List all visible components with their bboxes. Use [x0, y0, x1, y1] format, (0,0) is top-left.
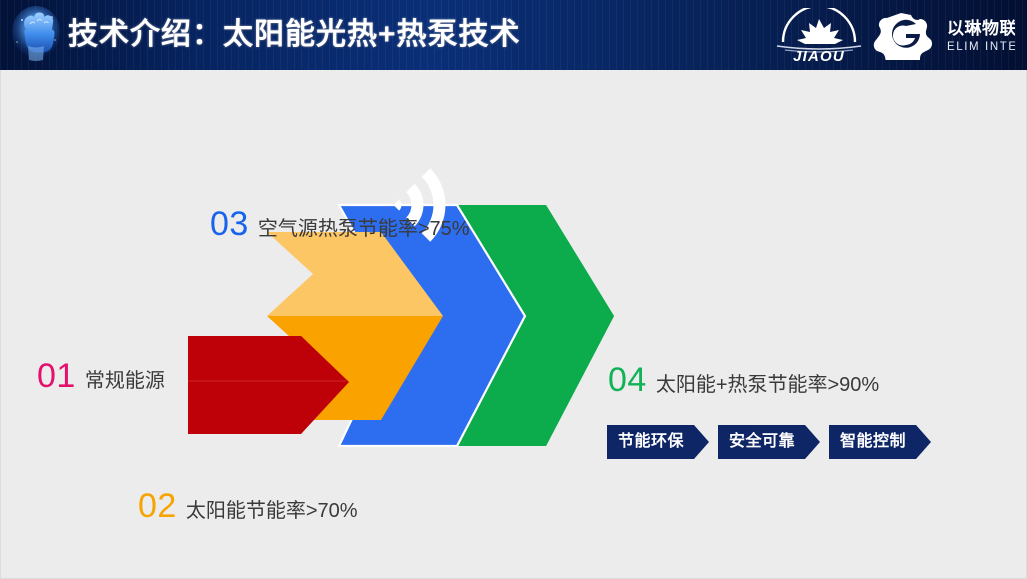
page-title: 技术介绍：太阳能光热+热泵技术	[68, 8, 521, 62]
step-label-03: 03 空气源热泵节能率>75%	[210, 205, 470, 244]
step-text-01: 常规能源	[85, 364, 165, 393]
tag-badge-safe-reliable: 安全可靠	[718, 425, 805, 459]
step-text-04: 太阳能+热泵节能率>90%	[656, 368, 879, 397]
slide-canvas: 技术介绍：太阳能光热+热泵技术 JIAOU 以琳物联 ELIM INTERNET	[0, 0, 1027, 579]
step-label-01: 01 常规能源	[37, 357, 165, 396]
tag-badge-smart-control: 智能控制	[829, 425, 916, 459]
feature-tag-row: 节能环保 安全可靠 智能控制	[607, 425, 931, 459]
elim-logo: 以琳物联 ELIM INTERNET	[873, 10, 1015, 60]
slide-body: 01 常规能源 02 太阳能节能率>70% 03 空气源热泵节能率>75% 04…	[0, 70, 1027, 579]
step-text-02: 太阳能节能率>70%	[186, 494, 358, 523]
step-number-02: 02	[138, 487, 177, 526]
jiaou-logo: JIAOU	[771, 8, 867, 62]
fist-icon	[8, 2, 64, 68]
step-text-03: 空气源热泵节能率>75%	[258, 212, 470, 241]
step-label-04: 04 太阳能+热泵节能率>90%	[608, 361, 879, 400]
tag-badge-energy-saving: 节能环保	[607, 425, 694, 459]
step-number-04: 04	[608, 361, 647, 400]
step-number-03: 03	[210, 205, 249, 244]
svg-text:JIAOU: JIAOU	[793, 48, 845, 62]
step-label-02: 02 太阳能节能率>70%	[138, 487, 358, 526]
elim-cn-name: 以琳物联	[947, 18, 1015, 38]
slide-header: 技术介绍：太阳能光热+热泵技术 JIAOU 以琳物联 ELIM INTERNET	[0, 0, 1027, 70]
step-number-01: 01	[37, 357, 76, 396]
elim-en-name: ELIM INTERNET	[947, 41, 1015, 53]
